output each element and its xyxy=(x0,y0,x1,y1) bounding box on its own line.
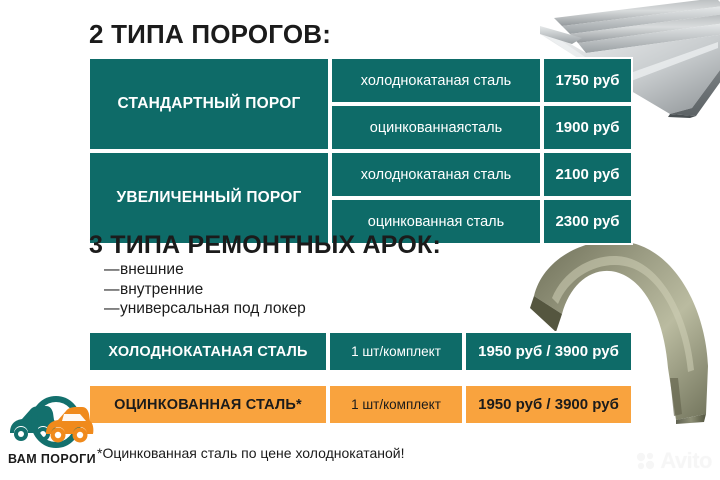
sill-material: оцинкованнаясталь xyxy=(330,104,542,151)
two-cars-logo-icon xyxy=(6,396,98,450)
list-item-label: внутренние xyxy=(120,281,203,298)
arch-material-name: ОЦИНКОВАННАЯ СТАЛЬ* xyxy=(88,384,328,425)
galvanized-steel-footnote: *Оцинкованная сталь по цене холоднокатан… xyxy=(97,445,404,461)
list-dash: — xyxy=(104,299,120,319)
table-row: СТАНДАРТНЫЙ ПОРОГ холоднокатаная сталь 1… xyxy=(88,57,633,104)
spacer-cell xyxy=(328,372,464,384)
spacer-cell xyxy=(464,372,633,384)
table-row-spacer xyxy=(88,372,633,384)
sill-price: 1900 руб xyxy=(542,104,633,151)
list-item: —внешние xyxy=(104,260,306,280)
sill-type-name: СТАНДАРТНЫЙ ПОРОГ xyxy=(88,57,330,151)
arch-quantity: 1 шт/комплект xyxy=(328,384,464,425)
arch-price: 1950 руб / 3900 руб xyxy=(464,331,633,372)
list-item: —универсальная под локер xyxy=(104,299,306,319)
table-row: ХОЛОДНОКАТАНАЯ СТАЛЬ 1 шт/комплект 1950 … xyxy=(88,331,633,372)
avito-watermark-text: Avito xyxy=(660,450,712,472)
list-dash: — xyxy=(104,280,120,300)
arch-quantity: 1 шт/комплект xyxy=(328,331,464,372)
sills-price-table: СТАНДАРТНЫЙ ПОРОГ холоднокатаная сталь 1… xyxy=(88,57,633,245)
price-list-canvas: 2 ТИПА ПОРОГОВ: СТАНДАРТНЫЙ ПОРОГ холодн… xyxy=(0,0,720,480)
arch-material-name: ХОЛОДНОКАТАНАЯ СТАЛЬ xyxy=(88,331,328,372)
table-row: ОЦИНКОВАННАЯ СТАЛЬ* 1 шт/комплект 1950 р… xyxy=(88,384,633,425)
spacer-cell xyxy=(88,372,328,384)
sills-section-heading: 2 ТИПА ПОРОГОВ: xyxy=(89,19,331,50)
list-item: —внутренние xyxy=(104,280,306,300)
list-item-label: внешние xyxy=(120,261,184,278)
sill-price: 2100 руб xyxy=(542,151,633,198)
avito-dots-icon xyxy=(636,451,656,471)
sill-price: 2300 руб xyxy=(542,198,633,245)
sill-price: 1750 руб xyxy=(542,57,633,104)
list-dash: — xyxy=(104,260,120,280)
arches-section-heading: 3 ТИПА РЕМОНТНЫХ АРОК: xyxy=(89,231,441,260)
table-row: УВЕЛИЧЕННЫЙ ПОРОГ холоднокатаная сталь 2… xyxy=(88,151,633,198)
arches-price-table: ХОЛОДНОКАТАНАЯ СТАЛЬ 1 шт/комплект 1950 … xyxy=(88,331,633,425)
arch-price: 1950 руб / 3900 руб xyxy=(464,384,633,425)
brand-name: ВАМ ПОРОГИ xyxy=(6,452,98,466)
avito-watermark: Avito xyxy=(636,450,712,472)
arch-types-list: —внешние —внутренние —универсальная под … xyxy=(104,260,306,319)
sill-material: холоднокатаная сталь xyxy=(330,57,542,104)
list-item-label: универсальная под локер xyxy=(120,300,306,317)
sill-material: холоднокатаная сталь xyxy=(330,151,542,198)
